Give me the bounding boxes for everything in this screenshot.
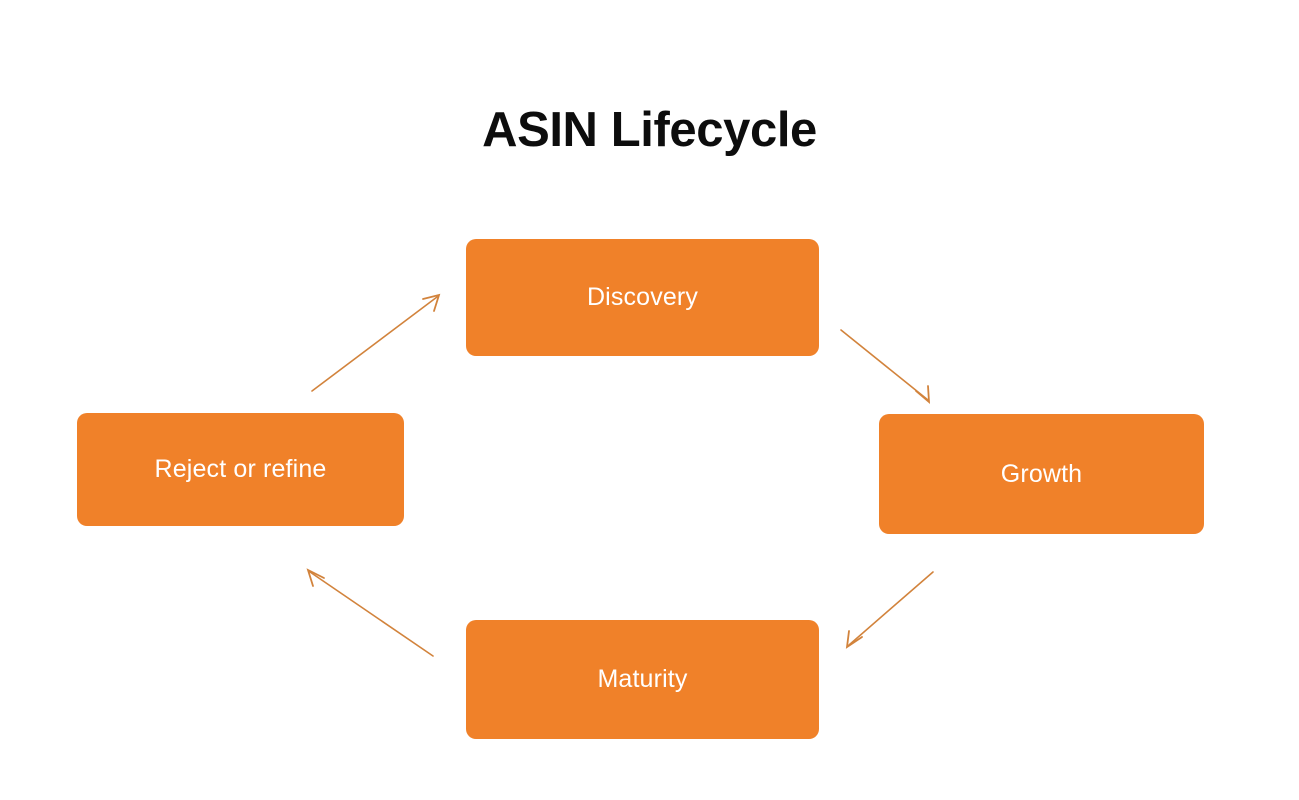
arrow-growth-to-maturity bbox=[847, 572, 933, 647]
node-maturity-label: Maturity bbox=[597, 667, 687, 692]
node-discovery-label: Discovery bbox=[587, 285, 698, 310]
node-growth-label: Growth bbox=[1001, 462, 1082, 487]
node-reject-or-refine-label: Reject or refine bbox=[155, 457, 327, 482]
arrow-discovery-to-growth bbox=[841, 330, 929, 402]
diagram-canvas: ASIN Lifecycle Discovery Growth Maturity bbox=[0, 0, 1299, 800]
node-maturity[interactable]: Maturity bbox=[466, 620, 819, 739]
node-reject-or-refine[interactable]: Reject or refine bbox=[77, 413, 404, 526]
arrow-maturity-to-reject bbox=[308, 570, 433, 656]
page-title: ASIN Lifecycle bbox=[0, 101, 1299, 159]
arrow-reject-to-discovery bbox=[312, 295, 439, 391]
node-discovery[interactable]: Discovery bbox=[466, 239, 819, 356]
node-growth[interactable]: Growth bbox=[879, 414, 1204, 534]
